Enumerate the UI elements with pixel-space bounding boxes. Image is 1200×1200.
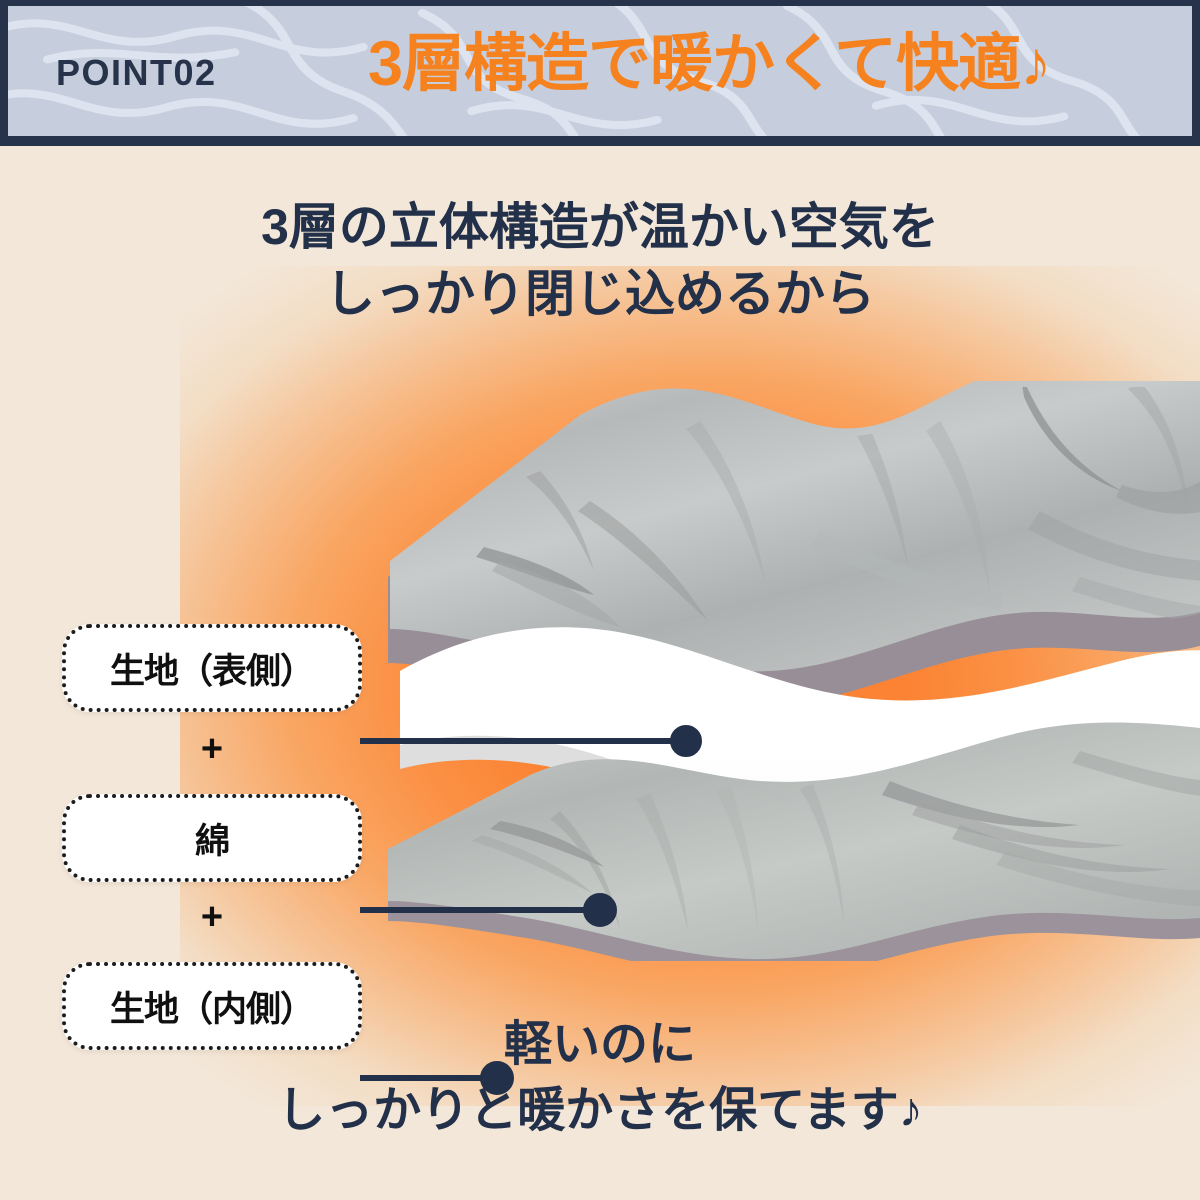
- infographic-page: POINT02 3層構造で暖かくて快適♪ 3層の立体構造が温かい空気を しっかり…: [0, 0, 1200, 1200]
- headline-line-1: 3層の立体構造が温かい空気を: [0, 194, 1200, 261]
- main-content-area: 3層の立体構造が温かい空気を しっかり閉じ込めるから: [0, 146, 1200, 1200]
- layer-label-cotton-text: 綿: [195, 813, 229, 864]
- layer-label-inner-fabric: 生地（内側）: [62, 962, 362, 1050]
- headline-line-2: しっかり閉じ込めるから: [0, 261, 1200, 328]
- layer-label-outer-fabric: 生地（表側）: [62, 624, 362, 712]
- header-title: 3層構造で暖かくて快適♪: [368, 28, 1158, 100]
- plus-sign-2: +: [62, 896, 362, 939]
- layer-label-outer-fabric-text: 生地（表側）: [110, 643, 314, 694]
- three-layer-cross-section-diagram: [380, 381, 1200, 961]
- point-label: POINT02: [56, 52, 217, 94]
- header-banner: POINT02 3層構造で暖かくて快適♪: [0, 0, 1200, 146]
- layer-label-inner-fabric-text: 生地（内側）: [110, 981, 314, 1032]
- headline-text: 3層の立体構造が温かい空気を しっかり閉じ込めるから: [0, 194, 1200, 328]
- plus-sign-1: +: [62, 728, 362, 771]
- footer-line-2: しっかりと暖かさを保てます♪: [0, 1078, 1200, 1144]
- layer-label-cotton: 綿: [62, 794, 362, 882]
